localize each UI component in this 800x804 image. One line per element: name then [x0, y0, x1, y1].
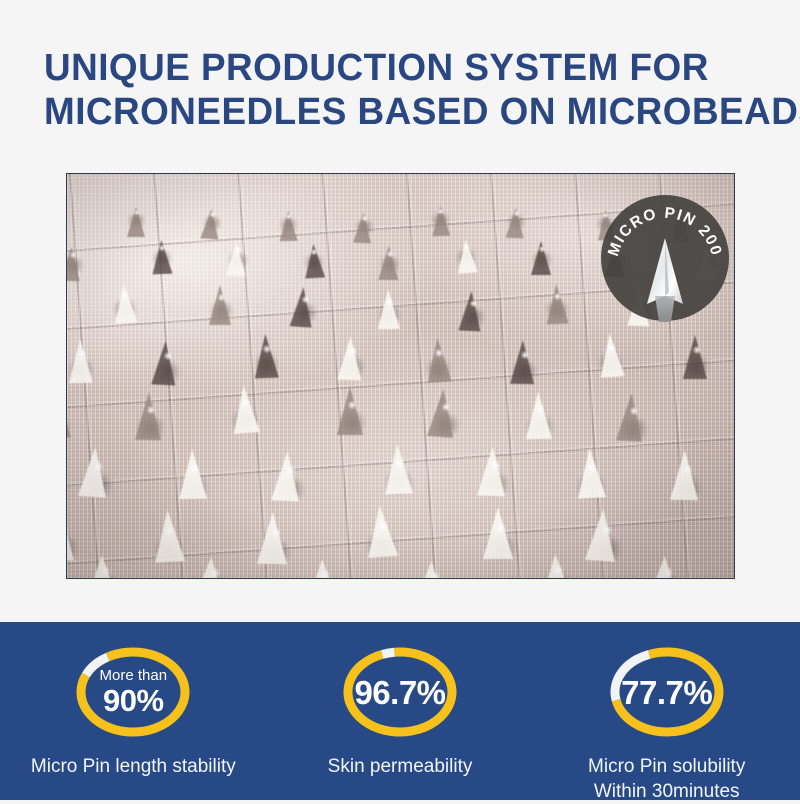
stat-item: 96.7%Skin permeability — [267, 622, 534, 800]
page-title: UNIQUE PRODUCTION SYSTEM FOR MICRONEEDLE… — [44, 46, 764, 134]
title-line-1: UNIQUE PRODUCTION SYSTEM FOR — [44, 46, 742, 90]
donut-eyebrow: More than — [100, 668, 168, 683]
micro-pin-200-badge: MICRO PIN 200 — [599, 192, 731, 324]
stats-panel: More than90%Micro Pin length stability 9… — [0, 622, 800, 800]
donut-value: 96.7% — [354, 676, 445, 709]
stat-caption: Micro Pin solubilityWithin 30minutes — [588, 754, 745, 804]
stat-caption-line: Micro Pin solubility — [588, 754, 745, 779]
donut-gauge: 77.7% — [606, 644, 728, 740]
stat-item: 77.7%Micro Pin solubilityWithin 30minute… — [533, 622, 800, 800]
stats-row: More than90%Micro Pin length stability 9… — [0, 622, 800, 800]
stat-caption-line: Skin permeability — [328, 754, 473, 779]
stat-caption-line: Within 30minutes — [588, 779, 745, 804]
stat-item: More than90%Micro Pin length stability — [0, 622, 267, 800]
donut-label-group: 77.7% — [606, 644, 728, 740]
donut-gauge: 96.7% — [339, 644, 461, 740]
donut-label-group: More than90% — [72, 644, 194, 740]
donut-value: 90% — [103, 684, 164, 717]
stat-caption-line: Micro Pin length stability — [31, 754, 236, 779]
stat-caption: Skin permeability — [328, 754, 473, 779]
title-line-2: MICRONEEDLES BASED ON MICROBEADS — [44, 90, 742, 134]
donut-label-group: 96.7% — [339, 644, 461, 740]
donut-value: 77.7% — [621, 676, 712, 709]
donut-gauge: More than90% — [72, 644, 194, 740]
stat-caption: Micro Pin length stability — [31, 754, 236, 779]
